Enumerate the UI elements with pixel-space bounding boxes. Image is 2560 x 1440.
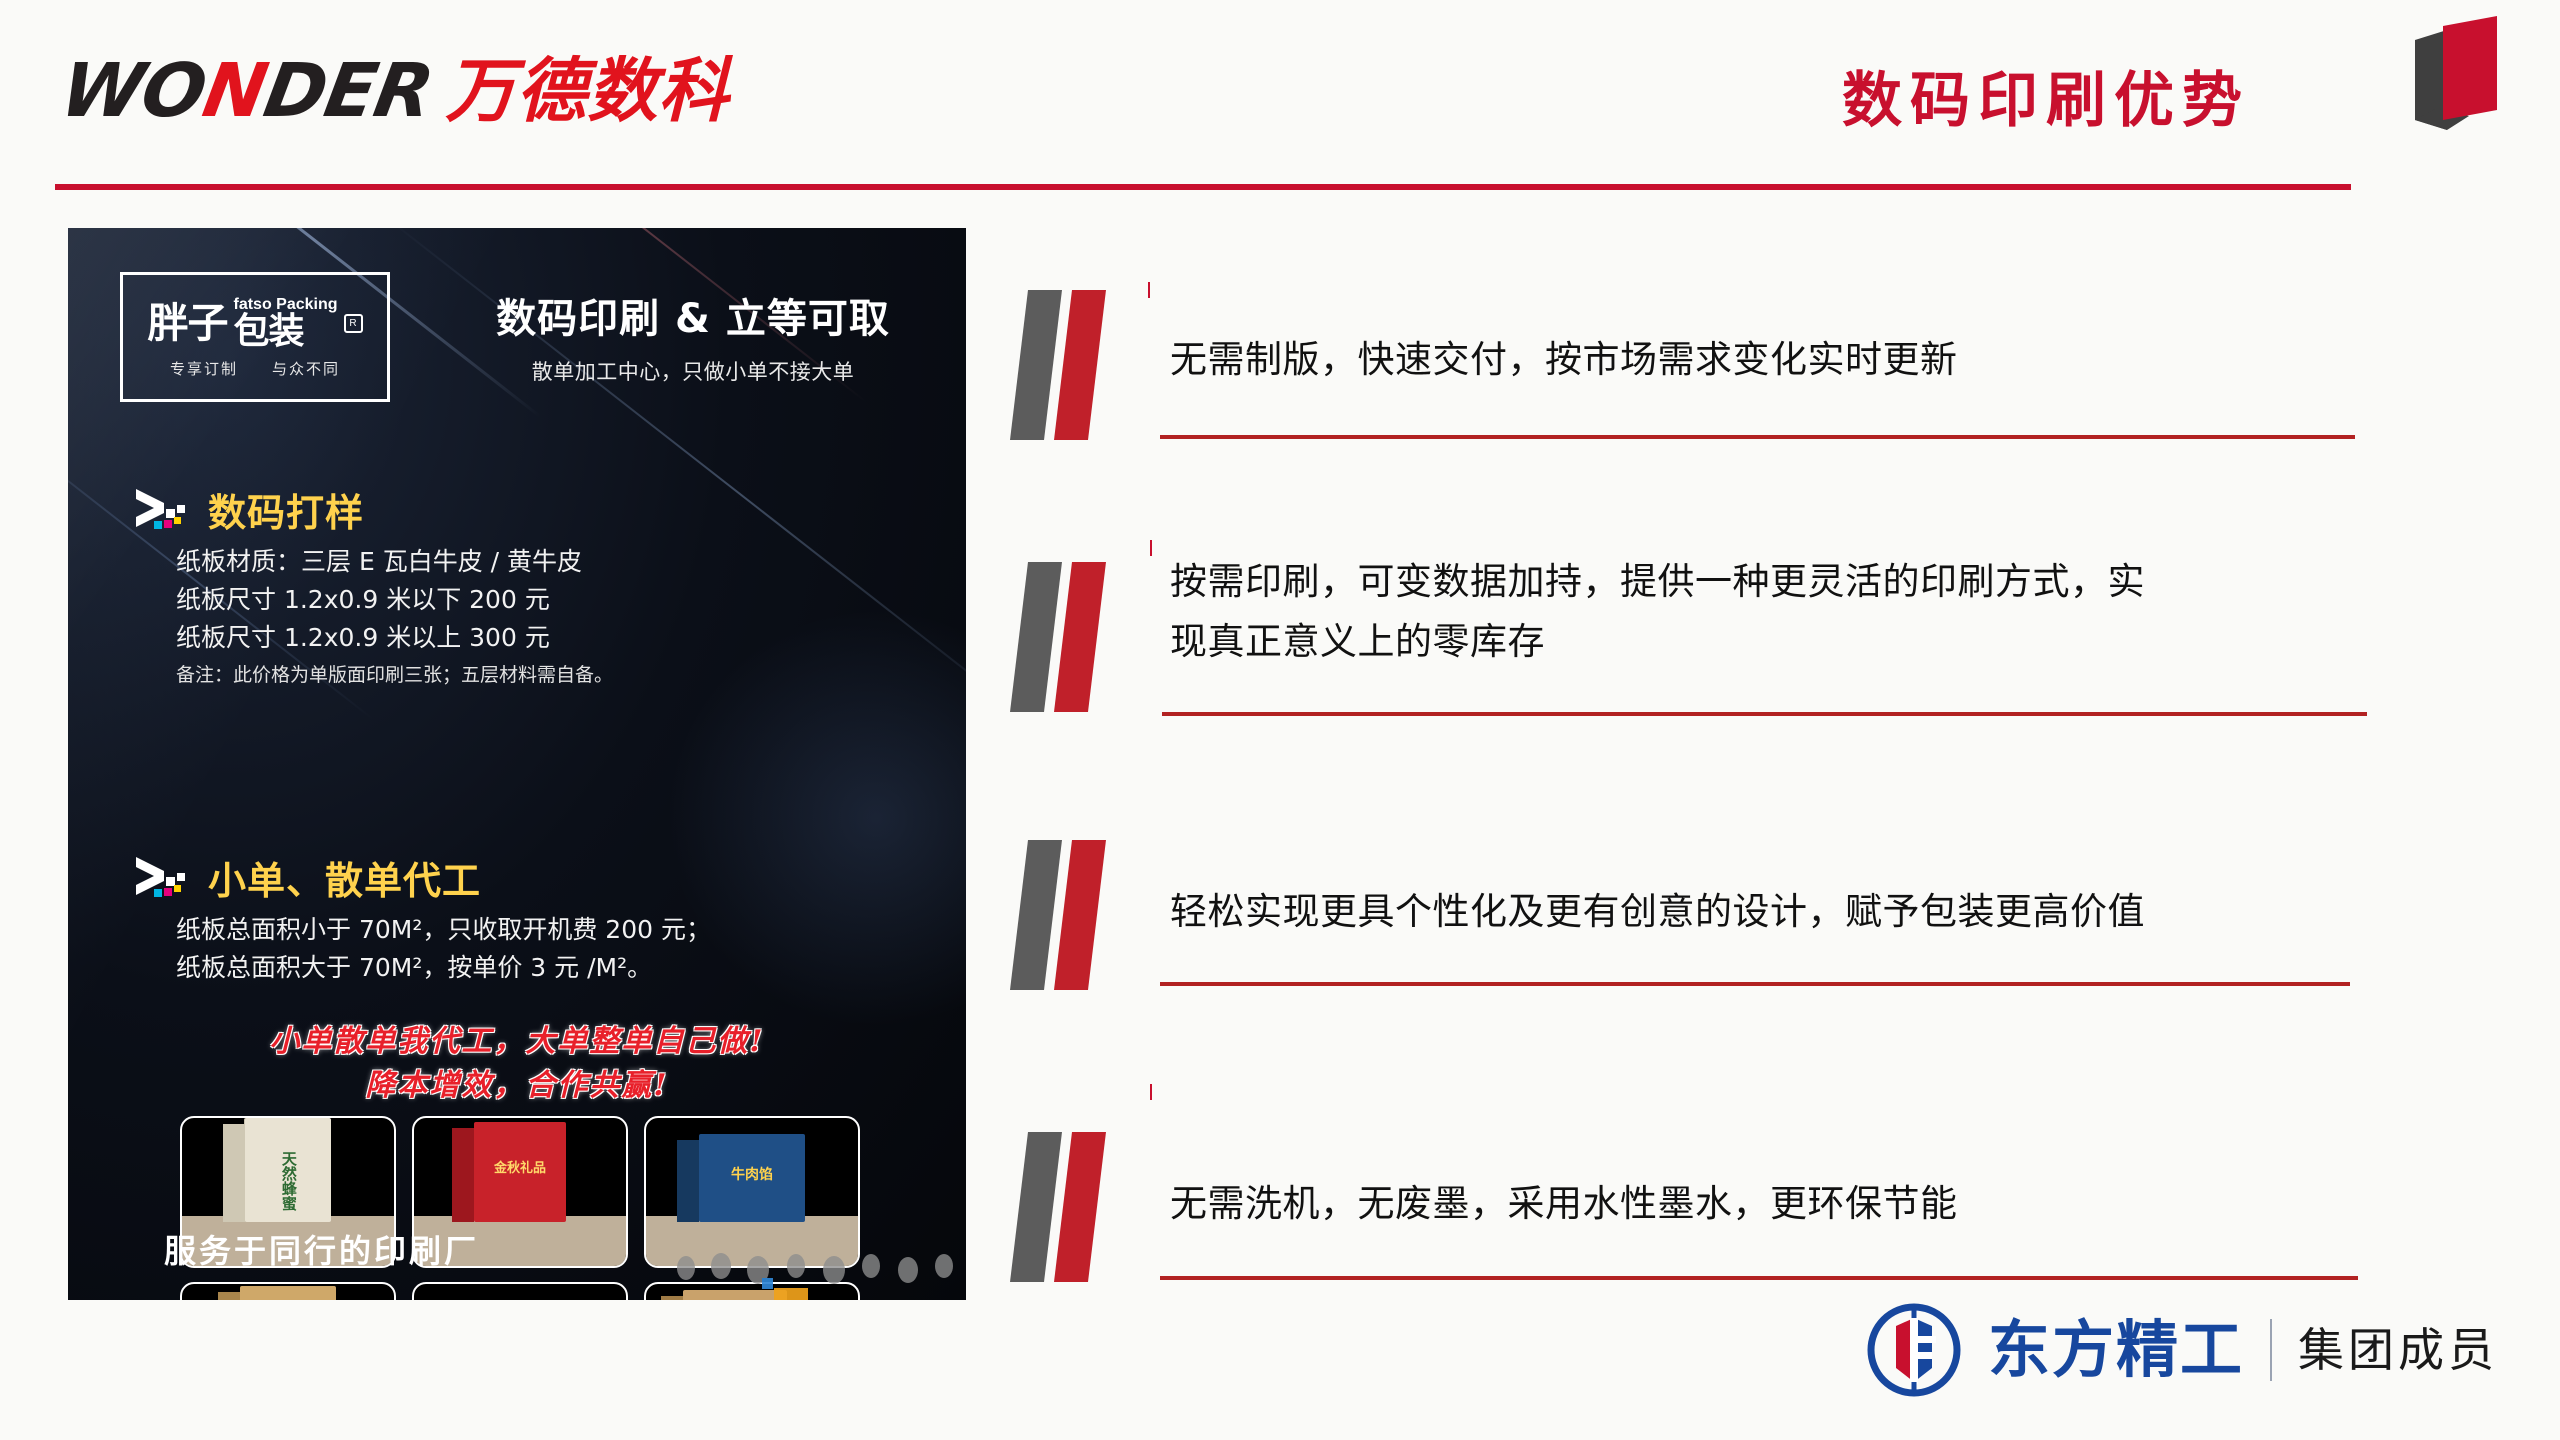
bookmark-ribbon-icon	[2385, 12, 2505, 152]
footer-member-label: 集团成员	[2298, 1327, 2498, 1373]
double-parallelogram-bullet-icon	[1010, 562, 1160, 722]
section-line: 纸板材质：三层 E 瓦白牛皮 / 黄牛皮	[176, 543, 930, 581]
product-box-shape	[240, 1286, 336, 1300]
fatso-tag-right: 与众不同	[272, 358, 340, 379]
poster-section-small-order-oem: 小单、散单代工 纸板总面积小于 70M²，只收取开机费 200 元； 纸板总面积…	[130, 850, 930, 987]
product-box-side	[223, 1124, 245, 1222]
section-title: 数码打样	[208, 482, 364, 537]
product-box-side	[218, 1292, 240, 1300]
poster-footer-text: 服务于同行的印刷厂	[164, 1226, 479, 1272]
section-line: 纸板总面积小于 70M²，只收取开机费 200 元；	[176, 911, 930, 949]
section-line: 纸板总面积大于 70M²，按单价 3 元 /M²。	[176, 949, 930, 987]
advantage-underline	[1160, 1276, 2358, 1280]
advantage-line: 按需印刷，可变数据加持，提供一种更灵活的印刷方式，实	[1170, 552, 2145, 612]
fatso-logo-cn2: 包装	[233, 314, 303, 350]
advantage-line: 无需洗机，无废墨，采用水性墨水，更环保节能	[1170, 1174, 1958, 1234]
product-box-side	[452, 1128, 474, 1222]
halftone-dots-decoration	[666, 1248, 966, 1300]
chevron-arrow-icon	[130, 855, 194, 901]
poster-headline-block: 数码印刷 & 立等可取 散单加工中心，只做小单不接大单	[458, 286, 928, 386]
advantage-underline	[1162, 712, 2367, 716]
registered-seal-icon: R	[344, 314, 363, 333]
poster-headline: 数码印刷 & 立等可取	[458, 286, 928, 344]
fatso-packing-logo: 胖子 fatso Packing 包装 R 专享订制 与众不同	[120, 272, 390, 402]
footer-group-brand: 东方精工 集团成员	[1866, 1302, 2498, 1398]
product-label: 牛肉馅	[731, 1168, 773, 1183]
product-photo	[180, 1282, 396, 1300]
product-box-side	[677, 1140, 699, 1222]
brand-latin-post: DER	[258, 48, 439, 134]
poster-slogan-line1: 小单散单我代工，大单整单自己做!	[68, 1020, 966, 1064]
bullet-tick-mark	[1150, 1084, 1152, 1100]
advantage-text: 按需印刷，可变数据加持，提供一种更灵活的印刷方式，实 现真正意义上的零库存	[1170, 552, 2145, 672]
advantage-line: 现真正意义上的零库存	[1170, 612, 2145, 672]
advantage-text: 无需制版，快速交付，按市场需求变化实时更新	[1170, 330, 1958, 390]
poster-slogan-line2: 降本增效，合作共赢!	[68, 1064, 966, 1108]
fatso-tag-left: 专享订制	[170, 358, 238, 379]
section-line: 纸板尺寸 1.2x0.9 米以上 300 元	[176, 619, 930, 657]
product-photo: 牛肉馅	[644, 1116, 860, 1268]
header-divider	[55, 184, 2351, 190]
advantage-text: 无需洗机，无废墨，采用水性墨水，更环保节能	[1170, 1174, 1958, 1234]
brand-latin-text: WONDER	[56, 56, 438, 126]
double-parallelogram-bullet-icon	[1010, 290, 1160, 450]
page-title: 数码印刷优势	[1842, 52, 2250, 139]
section-note: 备注：此价格为单版面印刷三张；五层材料需自备。	[176, 661, 930, 690]
poster-section-digital-proofing: 数码打样 纸板材质：三层 E 瓦白牛皮 / 黄牛皮 纸板尺寸 1.2x0.9 米…	[130, 482, 930, 690]
footer-company-name: 东方精工	[1988, 1319, 2244, 1381]
dongfang-shield-circle-icon	[1866, 1302, 1962, 1398]
advantage-underline	[1160, 982, 2350, 986]
brand-chinese-text: 万德数科	[445, 56, 729, 126]
brand-latin-pre: WO	[54, 48, 212, 134]
section-title: 小单、散单代工	[208, 850, 481, 905]
advantage-underline	[1160, 435, 2355, 439]
fatso-logo-cn: 胖子	[147, 303, 227, 344]
product-photo: 经典	[412, 1282, 628, 1300]
advantage-text: 轻松实现更具个性化及更有创意的设计，赋予包装更高价值	[1170, 882, 2145, 942]
poster-subheadline: 散单加工中心，只做小单不接大单	[458, 356, 928, 386]
advantage-line: 轻松实现更具个性化及更有创意的设计，赋予包装更高价值	[1170, 882, 2145, 942]
promo-poster-image: 胖子 fatso Packing 包装 R 专享订制 与众不同 数码印刷 & 立…	[68, 228, 966, 1300]
product-label: 金秋礼品	[494, 1162, 546, 1176]
wonder-brand-logo: WONDER 万德数科	[62, 48, 729, 126]
double-parallelogram-bullet-icon	[1010, 1132, 1160, 1292]
product-label: 天然蜂蜜	[280, 1151, 296, 1211]
double-parallelogram-bullet-icon	[1010, 840, 1160, 1000]
poster-slogan: 小单散单我代工，大单整单自己做! 降本增效，合作共赢!	[68, 1020, 966, 1107]
slide-header: WONDER 万德数科 数码印刷优势	[0, 0, 2560, 200]
advantage-line: 无需制版，快速交付，按市场需求变化实时更新	[1170, 330, 1958, 390]
chevron-arrow-icon	[130, 487, 194, 533]
section-line: 纸板尺寸 1.2x0.9 米以下 200 元	[176, 581, 930, 619]
bullet-tick-mark	[1150, 540, 1152, 556]
footer-divider	[2270, 1319, 2272, 1381]
